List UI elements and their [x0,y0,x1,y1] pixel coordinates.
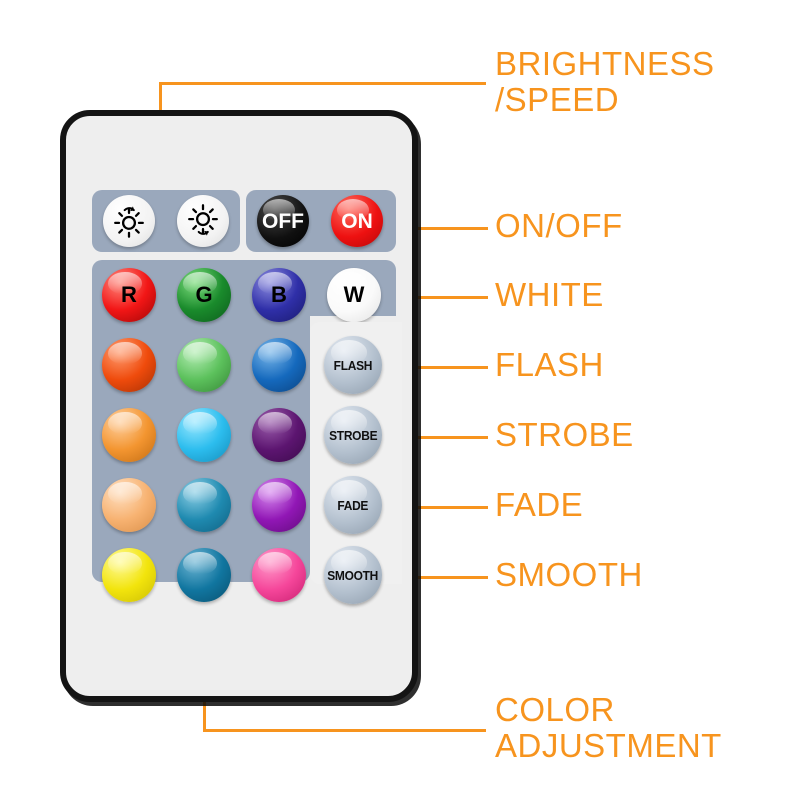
callout-label-smooth: SMOOTH [495,557,643,593]
callout-line-color-horizontal [203,729,486,732]
callout-label-strobe: STROBE [495,417,634,453]
callout-label-color-adjustment: COLOR ADJUSTMENT [495,692,722,763]
callout-line-brightness-horizontal [159,82,486,85]
color-button-g-label: G [195,284,212,306]
smooth-button[interactable]: SMOOTH [324,546,382,604]
color-button-g[interactable]: G [177,268,231,322]
on-button-label: ON [341,211,373,232]
strobe-button-label: STROBE [329,429,377,442]
brightness-down-icon [184,202,222,240]
strobe-button[interactable]: STROBE [324,406,382,464]
callout-label-flash: FLASH [495,347,604,383]
brightness-down-button[interactable] [177,195,229,247]
callout-label-brightness: BRIGHTNESS /SPEED [495,46,715,117]
color-button-r3c2[interactable] [177,478,231,532]
color-button-r1c2[interactable] [177,338,231,392]
color-button-r3c1[interactable] [102,478,156,532]
color-button-r4c2[interactable] [177,548,231,602]
flash-button-label: FLASH [334,359,372,372]
color-button-r2c1[interactable] [102,408,156,462]
power-panel: OFF ON [246,190,396,252]
brightness-up-icon [110,202,148,240]
color-button-r1c1[interactable] [102,338,156,392]
off-button[interactable]: OFF [257,195,309,247]
callout-label-fade: FADE [495,487,583,523]
color-button-r4c1[interactable] [102,548,156,602]
color-button-w[interactable]: W [327,268,381,322]
on-button[interactable]: ON [331,195,383,247]
callout-label-onoff: ON/OFF [495,208,623,244]
fade-button-label: FADE [338,499,369,512]
off-button-label: OFF [262,211,304,232]
color-button-r2c2[interactable] [177,408,231,462]
color-button-r[interactable]: R [102,268,156,322]
fade-button[interactable]: FADE [324,476,382,534]
callout-label-white: WHITE [495,277,604,313]
smooth-button-label: SMOOTH [328,569,379,582]
brightness-panel [92,190,240,252]
color-button-b[interactable]: B [252,268,306,322]
color-button-r4c3[interactable] [252,548,306,602]
color-button-r-label: R [121,284,137,306]
color-button-r2c3[interactable] [252,408,306,462]
diagram-canvas: BRIGHTNESS /SPEED ON/OFF WHITE FLASH STR… [0,0,800,800]
color-button-b-label: B [271,284,287,306]
flash-button[interactable]: FLASH [324,336,382,394]
brightness-up-button[interactable] [103,195,155,247]
remote-control-body: OFF ON R G B W [60,110,418,702]
color-button-w-label: W [344,284,365,306]
color-button-r1c3[interactable] [252,338,306,392]
color-button-r3c3[interactable] [252,478,306,532]
